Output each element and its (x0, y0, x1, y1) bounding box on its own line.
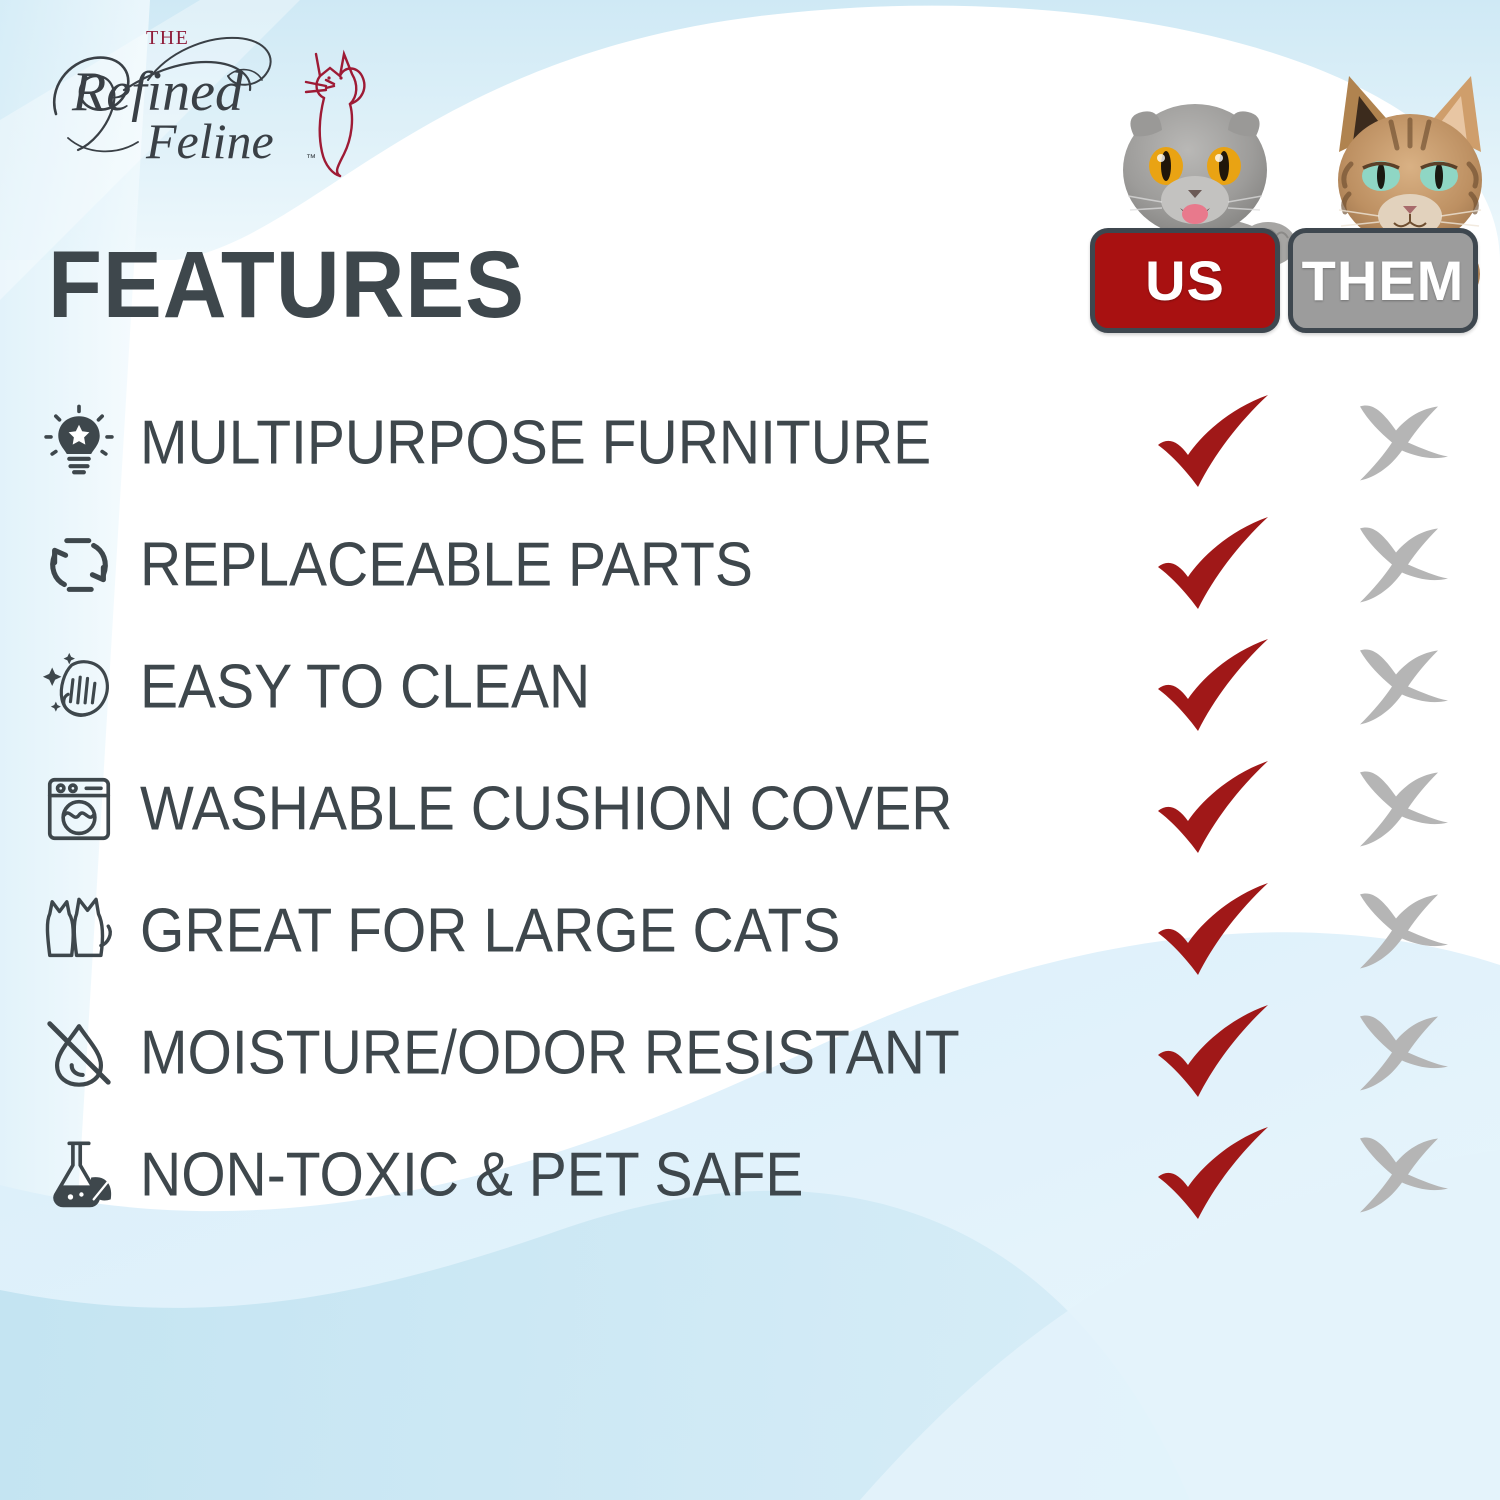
feature-row: EASY TO CLEAN (0, 626, 1500, 748)
lightbulb-star-icon (36, 400, 122, 486)
check-mark (1152, 637, 1277, 737)
feature-label: REPLACEABLE PARTS (140, 530, 753, 601)
feature-row: MULTIPURPOSE FURNITURE (0, 382, 1500, 504)
them-button[interactable]: THEM (1288, 228, 1478, 333)
feature-row: REPLACEABLE PARTS (0, 504, 1500, 626)
compare-buttons: US THEM (1090, 228, 1478, 333)
cross-mark (1352, 645, 1452, 730)
feature-label: GREAT FOR LARGE CATS (140, 896, 840, 967)
feature-row: NON-TOXIC & PET SAFE (0, 1114, 1500, 1236)
no-moisture-droplet-icon (36, 1010, 122, 1096)
check-mark (1152, 881, 1277, 981)
brand-logo: THE Refined Feline ™ (38, 18, 368, 183)
us-button-label: US (1145, 253, 1225, 309)
feature-label: NON-TOXIC & PET SAFE (140, 1140, 803, 1211)
check-mark (1152, 1125, 1277, 1225)
cross-mark (1352, 767, 1452, 852)
cross-mark (1352, 401, 1452, 486)
page-title: FEATURES (48, 238, 525, 333)
check-mark (1152, 1003, 1277, 1103)
infographic-page: THE Refined Feline ™ (0, 0, 1500, 1500)
feature-label: WASHABLE CUSHION COVER (140, 774, 952, 845)
cross-mark (1352, 523, 1452, 608)
feature-row: GREAT FOR LARGE CATS (0, 870, 1500, 992)
logo-trademark: ™ (306, 153, 316, 164)
feature-row: MOISTURE/ODOR RESISTANT (0, 992, 1500, 1114)
logo-feline-text: Feline (145, 113, 274, 169)
check-mark (1152, 759, 1277, 859)
them-button-label: THEM (1302, 253, 1465, 309)
flask-leaf-icon (36, 1132, 122, 1218)
cross-mark (1352, 889, 1452, 974)
cross-mark (1352, 1133, 1452, 1218)
refresh-arrows-icon (36, 522, 122, 608)
check-mark (1152, 515, 1277, 615)
two-cats-icon (36, 888, 122, 974)
washing-machine-icon (36, 766, 122, 852)
compare-header: US THEM (1090, 60, 1500, 345)
check-mark (1152, 393, 1277, 493)
feature-label: MULTIPURPOSE FURNITURE (140, 408, 931, 479)
features-list: MULTIPURPOSE FURNITURE REPLACEABLE PARTS (0, 382, 1500, 1236)
logo-the-text: THE (146, 27, 189, 49)
us-button[interactable]: US (1090, 228, 1280, 333)
cross-mark (1352, 1011, 1452, 1096)
feature-row: WASHABLE CUSHION COVER (0, 748, 1500, 870)
feature-label: MOISTURE/ODOR RESISTANT (140, 1018, 960, 1089)
feature-label: EASY TO CLEAN (140, 652, 590, 723)
wiping-hand-sparkle-icon (36, 644, 122, 730)
